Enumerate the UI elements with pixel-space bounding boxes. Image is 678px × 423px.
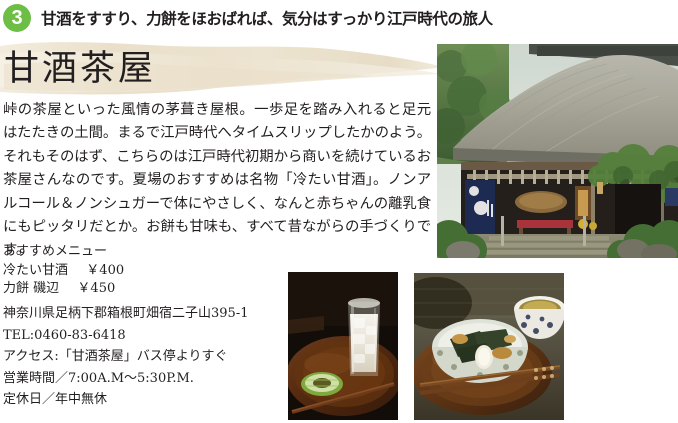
shop-address: 神奈川県足柄下郡箱根町畑宿二子山395-1 [3,303,293,325]
menu-item: 力餅 磯辺 ￥450 [3,280,283,299]
menu-item: 冷たい甘酒 ￥400 [3,262,283,281]
menu-item-price: ￥450 [77,281,115,296]
article-body: 峠の茶屋といった風情の茅葺き屋根。一歩足を踏み入れると足元はたたきの土間。まるで… [3,99,431,263]
menu-item-name: 力餅 磯辺 [3,281,59,296]
page-title: 甘酒茶屋 [4,52,304,87]
menu-item-price: ￥400 [86,263,124,278]
photo-isobe-mochi-bowl [414,273,564,420]
article-number-label: 3 [11,8,22,29]
article-body-paragraph: 峠の茶屋といった風情の茅葺き屋根。一歩足を踏み入れると足元はたたきの土間。まるで… [3,99,431,263]
recommended-menu: おすすめメニュー 冷たい甘酒 ￥400 力餅 磯辺 ￥450 [3,243,283,299]
menu-item-name: 冷たい甘酒 [3,263,68,278]
shop-info: 神奈川県足柄下郡箱根町畑宿二子山395-1 TEL:0460-83-6418 ア… [3,303,293,411]
shop-closed-days: 定休日／年中無休 [3,389,293,411]
article-header: 3 甘酒をすすり、力餅をほおばれば、気分はすっかり江戸時代の旅人 [0,0,678,36]
photo-cold-amazake-glass [288,272,398,420]
menu-heading: おすすめメニュー [3,243,283,262]
shop-title-block: 甘酒茶屋 [4,52,304,87]
photo-exterior-thatched-teahouse [437,44,678,258]
shop-telephone: TEL:0460-83-6418 [3,325,293,347]
article-lead-copy: 甘酒をすすり、力餅をほおばれば、気分はすっかり江戸時代の旅人 [41,7,493,29]
article-number-badge: 3 [3,4,31,32]
shop-hours: 営業時間／7:00A.M〜5:30P.M. [3,368,293,390]
shop-access: アクセス:「甘酒茶屋」バス停よりすぐ [3,346,293,368]
